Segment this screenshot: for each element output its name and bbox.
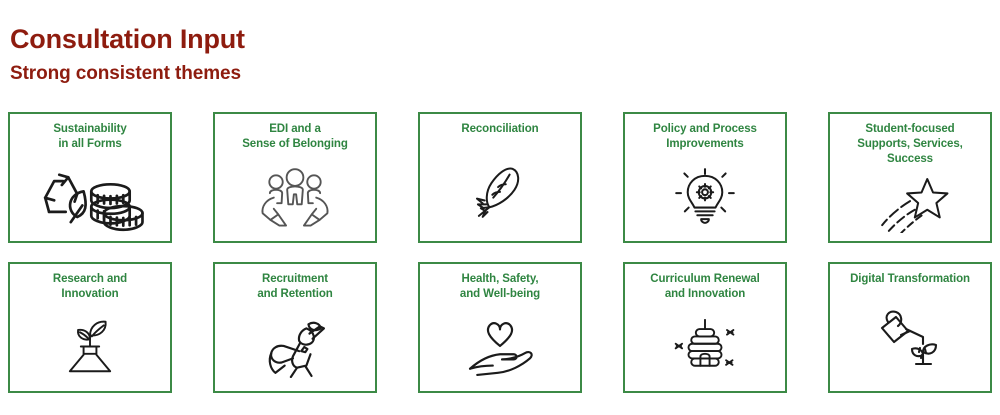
theme-card-research[interactable]: Research and Innovation [8, 262, 172, 393]
superhero-icon [215, 302, 375, 391]
hands-holding-people-icon [215, 152, 375, 241]
theme-card-recruitment[interactable]: Recruitment and Retention [213, 262, 377, 393]
shooting-star-icon [830, 167, 990, 241]
header-block: Consultation Input Strong consistent the… [10, 0, 245, 86]
theme-card-label: Recruitment and Retention [253, 272, 336, 302]
slide-canvas: Consultation Input Strong consistent the… [0, 0, 1000, 415]
theme-card-policy[interactable]: Policy and Process Improvements [623, 112, 787, 243]
theme-card-health[interactable]: Health, Safety, and Well-being [418, 262, 582, 393]
page-subtitle: Strong consistent themes [10, 62, 245, 86]
feather-icon [420, 137, 580, 241]
hand-heart-icon [420, 302, 580, 391]
theme-card-student-focused[interactable]: Student-focused Supports, Services, Succ… [828, 112, 992, 243]
page-title: Consultation Input [10, 22, 245, 56]
themes-grid: Sustainability in all Forms [8, 112, 992, 393]
flask-plant-icon [10, 302, 170, 391]
theme-card-digital-transformation[interactable]: Digital Transformation [828, 262, 992, 393]
beehive-bees-icon [625, 302, 785, 391]
theme-card-label: Student-focused Supports, Services, Succ… [853, 122, 966, 167]
theme-card-reconciliation[interactable]: Reconciliation [418, 112, 582, 243]
theme-card-curriculum[interactable]: Curriculum Renewal and Innovation [623, 262, 787, 393]
theme-card-sustainability[interactable]: Sustainability in all Forms [8, 112, 172, 243]
theme-card-label: Research and Innovation [49, 272, 131, 302]
theme-card-label: Health, Safety, and Well-being [456, 272, 544, 302]
theme-card-label: Policy and Process Improvements [649, 122, 761, 152]
theme-card-label: EDI and a Sense of Belonging [238, 122, 352, 152]
watering-can-sprout-icon [830, 287, 990, 391]
theme-card-label: Digital Transformation [846, 272, 974, 287]
lightbulb-gear-icon [625, 152, 785, 241]
theme-card-edi[interactable]: EDI and a Sense of Belonging [213, 112, 377, 243]
theme-card-label: Sustainability in all Forms [49, 122, 130, 152]
recycle-leaf-coins-icon [10, 152, 170, 241]
theme-card-label: Reconciliation [457, 122, 542, 137]
theme-card-label: Curriculum Renewal and Innovation [646, 272, 763, 302]
